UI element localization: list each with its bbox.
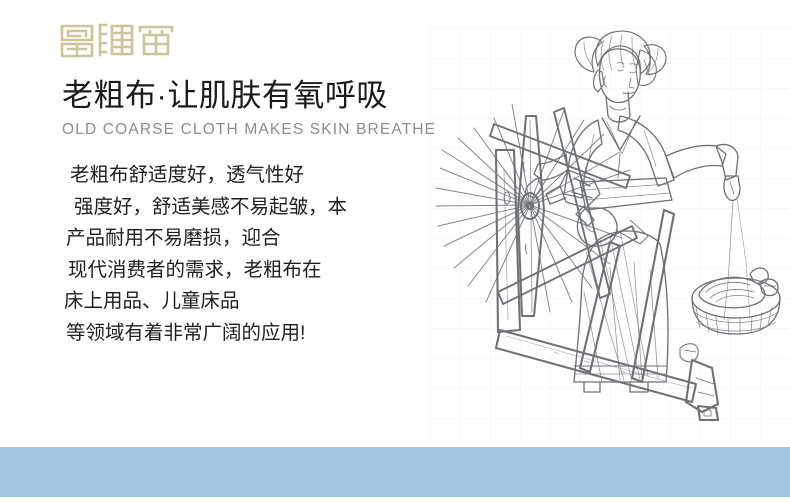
seal-script-logo-icon bbox=[58, 20, 176, 60]
promo-banner: 老粗布·让肌肤有氧呼吸 OLD COARSE CLOTH MAKES SKIN … bbox=[0, 0, 790, 502]
spinning-wheel-illustration bbox=[434, 30, 790, 430]
page-subtitle: OLD COARSE CLOTH MAKES SKIN BREATHE bbox=[62, 120, 436, 140]
description-line: 床上用品、儿童床品 bbox=[62, 286, 442, 318]
woman-at-spinning-wheel-icon bbox=[434, 30, 790, 430]
description-line: 现代消费者的需求，老粗布在 bbox=[62, 255, 442, 287]
brand-logo bbox=[58, 20, 176, 60]
description-line: 强度好，舒适美感不易起皱，本 bbox=[62, 192, 442, 224]
description-line: 产品耐用不易磨损，迎合 bbox=[62, 223, 442, 255]
page-title: 老粗布·让肌肤有氧呼吸 bbox=[62, 76, 388, 116]
description-line: 等领域有着非常广阔的应用! bbox=[62, 318, 442, 350]
bottom-blue-band bbox=[0, 447, 790, 497]
text-column: 老粗布·让肌肤有氧呼吸 OLD COARSE CLOTH MAKES SKIN … bbox=[0, 0, 450, 440]
description-line: 老粗布舒适度好，透气性好 bbox=[62, 160, 442, 192]
description-paragraph: 老粗布舒适度好，透气性好 强度好，舒适美感不易起皱，本 产品耐用不易磨损，迎合 … bbox=[62, 160, 442, 349]
